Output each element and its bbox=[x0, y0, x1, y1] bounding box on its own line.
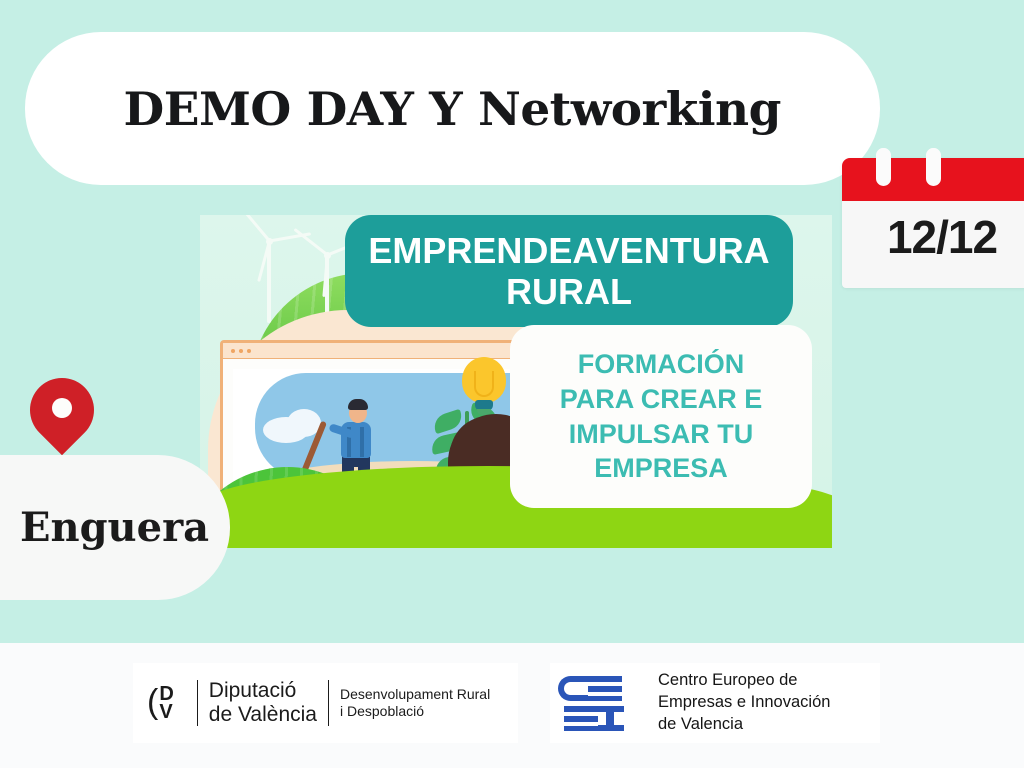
turbine-hub bbox=[324, 252, 331, 259]
ceei-name-line-3: de Valencia bbox=[658, 714, 830, 736]
location-name: Enguera bbox=[0, 504, 209, 551]
program-subtitle: FORMACIÓN PARA CREAR E IMPULSAR TU EMPRE… bbox=[560, 347, 763, 485]
program-title-line-2: RURAL bbox=[368, 271, 769, 312]
farmer-overall-strap bbox=[360, 427, 364, 457]
program-title-line-1: EMPRENDEAVENTURA bbox=[368, 230, 769, 271]
footer-bar: ( D V Diputació de València Desenvolupam… bbox=[0, 643, 1024, 768]
program-title: EMPRENDEAVENTURA RURAL bbox=[368, 230, 769, 312]
wind-turbine-icon bbox=[246, 223, 292, 327]
program-subtitle-box: FORMACIÓN PARA CREAR E IMPULSAR TU EMPRE… bbox=[510, 325, 812, 508]
ceei-letter-i-bottom bbox=[598, 725, 624, 731]
diputacio-name-line-2: de València bbox=[209, 703, 317, 727]
ceei-name-line-1: Centro Europeo de bbox=[658, 670, 830, 692]
program-subtitle-line-2: PARA CREAR E bbox=[560, 382, 763, 417]
calendar-ring-right-top bbox=[926, 148, 941, 186]
ceei-letter-e-top bbox=[588, 676, 622, 701]
diputacio-valencia-logo: ( D V Diputació de València Desenvolupam… bbox=[133, 663, 518, 743]
logo-divider bbox=[328, 680, 329, 726]
browser-dot bbox=[239, 349, 243, 353]
logo-divider bbox=[197, 680, 198, 726]
farmer-hair bbox=[348, 399, 368, 410]
dv-monogram-icon: ( D V bbox=[147, 685, 174, 722]
page-title: DEMO DAY Y Networking bbox=[124, 82, 781, 136]
program-subtitle-line-4: EMPRESA bbox=[560, 451, 763, 486]
event-date: 12/12 bbox=[842, 210, 1024, 264]
diputacio-name-line-1: Diputació bbox=[209, 679, 317, 703]
calendar-icon: 12/12 bbox=[842, 148, 1024, 288]
ceei-name: Centro Europeo de Empresas e Innovación … bbox=[658, 670, 830, 736]
diputacio-dept-line-1: Desenvolupament Rural bbox=[340, 686, 490, 703]
program-subtitle-line-1: FORMACIÓN bbox=[560, 347, 763, 382]
title-banner: DEMO DAY Y Networking bbox=[25, 32, 880, 185]
browser-dot bbox=[247, 349, 251, 353]
ceei-letter-e-bottom bbox=[564, 706, 598, 731]
dv-letters: D V bbox=[159, 685, 173, 722]
dv-paren-glyph: ( bbox=[147, 689, 158, 716]
diputacio-dept-line-2: i Despoblació bbox=[340, 703, 490, 720]
location-badge: Enguera bbox=[0, 455, 230, 600]
diputacio-name: Diputació de València bbox=[209, 679, 317, 728]
poster-canvas: DEMO DAY Y Networking 12/12 bbox=[0, 0, 1024, 768]
program-subtitle-line-3: IMPULSAR TU bbox=[560, 417, 763, 452]
program-title-box: EMPRENDEAVENTURA RURAL bbox=[345, 215, 793, 327]
ceei-valencia-logo: Centro Europeo de Empresas e Innovación … bbox=[550, 663, 880, 743]
ceei-letter-i-top bbox=[598, 706, 624, 712]
browser-dot bbox=[231, 349, 235, 353]
turbine-hub bbox=[266, 238, 273, 245]
ceei-letter-c bbox=[558, 676, 588, 701]
ceei-name-line-2: Empresas e Innovación bbox=[658, 692, 830, 714]
calendar-ring-left-top bbox=[876, 148, 891, 186]
map-pin-hole bbox=[52, 398, 72, 418]
map-pin-icon bbox=[30, 378, 94, 464]
ceei-monogram-icon bbox=[558, 674, 644, 732]
diputacio-department: Desenvolupament Rural i Despoblació bbox=[340, 686, 490, 720]
dv-letter-v: V bbox=[159, 703, 173, 721]
bulb-filament bbox=[474, 371, 494, 397]
